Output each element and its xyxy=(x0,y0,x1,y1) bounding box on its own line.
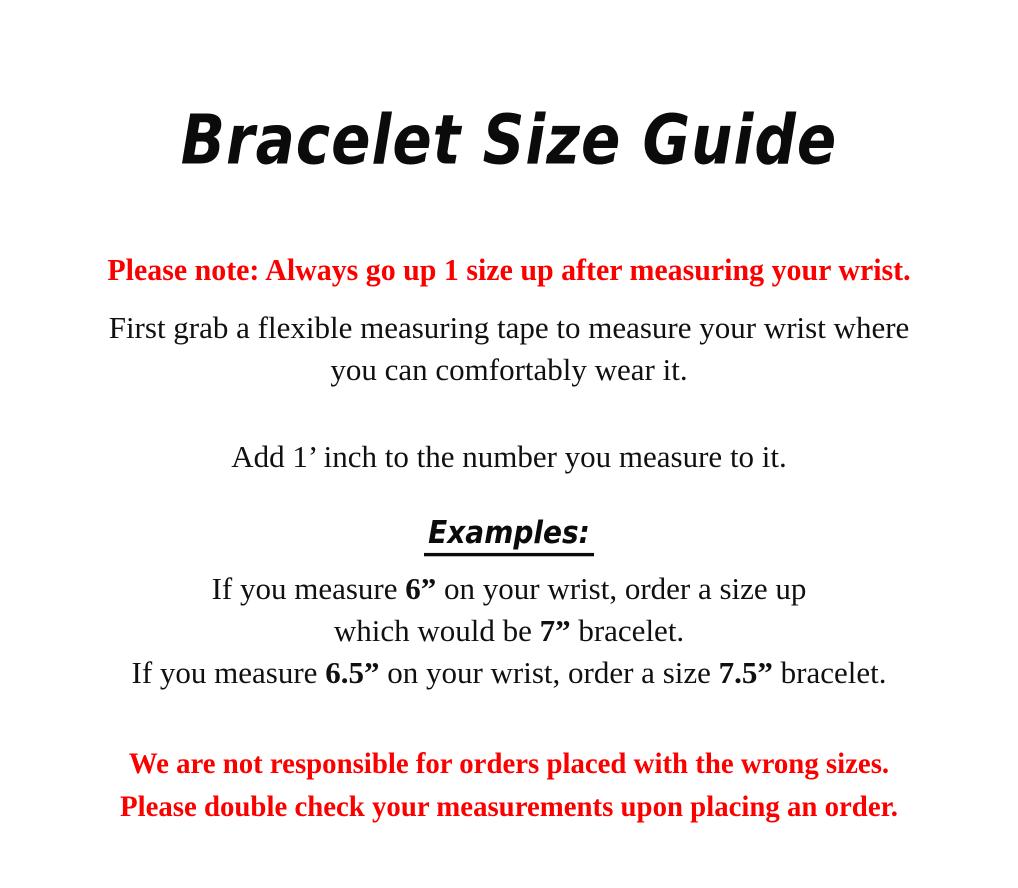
disclaimer-block: We are not responsible for orders placed… xyxy=(20,742,997,828)
example-2-size: 7” xyxy=(540,613,571,648)
bracelet-size-guide-page: Bracelet Size Guide Please note: Always … xyxy=(0,0,1018,888)
example-3-middle: on your wrist, order a size xyxy=(379,655,718,690)
examples-underline-rule xyxy=(424,553,594,556)
example-line-3: If you measure 6.5” on your wrist, order… xyxy=(0,652,1018,694)
add-inch-paragraph: Add 1’ inch to the number you measure to… xyxy=(0,436,1018,478)
disclaimer-line-2: Please double check your measurements up… xyxy=(20,785,997,828)
example-3-suffix: bracelet. xyxy=(773,655,887,690)
example-2-suffix: bracelet. xyxy=(571,613,685,648)
example-1-prefix: If you measure xyxy=(212,571,406,606)
intro-paragraph: First grab a flexible measuring tape to … xyxy=(0,307,1018,391)
example-3-size: 6.5” xyxy=(325,655,379,690)
example-line-1: If you measure 6” on your wrist, order a… xyxy=(0,568,1018,610)
example-3-prefix: If you measure xyxy=(132,655,326,690)
please-note-text: Please note: Always go up 1 size up afte… xyxy=(18,250,1000,290)
example-line-2: which would be 7” bracelet. xyxy=(0,610,1018,652)
example-1-size: 6” xyxy=(405,571,436,606)
example-3-size-2: 7.5” xyxy=(719,655,773,690)
example-2-prefix: which would be xyxy=(334,613,540,648)
example-1-suffix: on your wrist, order a size up xyxy=(436,571,806,606)
examples-list: If you measure 6” on your wrist, order a… xyxy=(0,568,1018,694)
examples-heading-inner: Examples: xyxy=(428,514,590,557)
add-inch-line: Add 1’ inch to the number you measure to… xyxy=(0,436,1018,478)
intro-line-1: First grab a flexible measuring tape to … xyxy=(0,307,1018,349)
disclaimer-line-1: We are not responsible for orders placed… xyxy=(20,742,997,785)
examples-heading-label: Examples: xyxy=(428,514,590,551)
examples-heading: Examples: xyxy=(0,514,1018,557)
intro-line-2: you can comfortably wear it. xyxy=(0,349,1018,391)
page-title: Bracelet Size Guide xyxy=(0,96,1018,183)
